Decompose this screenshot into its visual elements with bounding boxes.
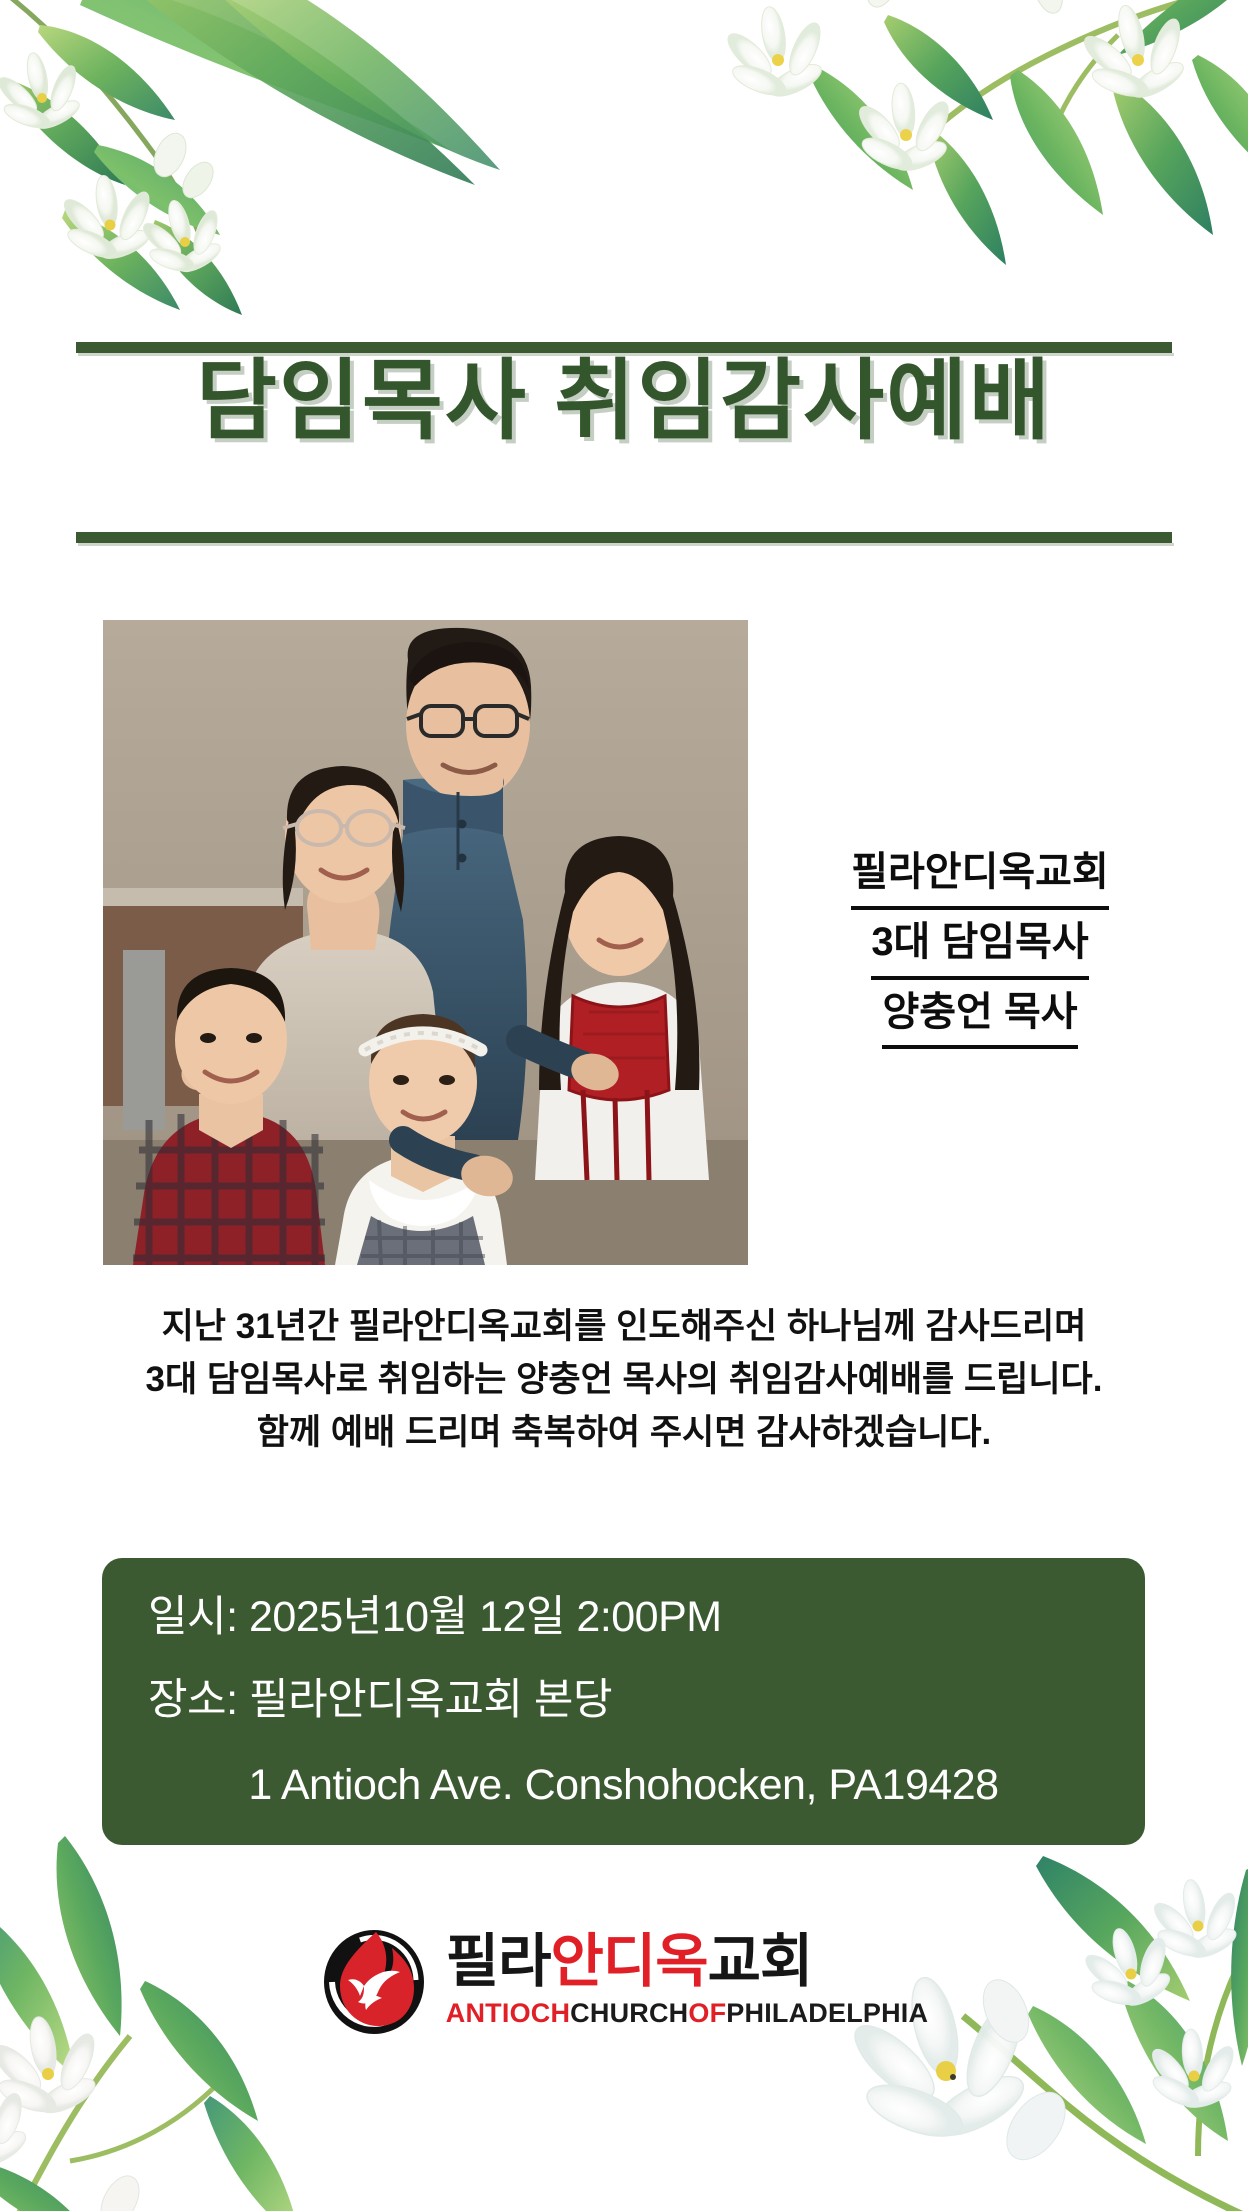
event-details-box: 일시: 2025년10월 12일 2:00PM 장소: 필라안디옥교회 본당 1…: [102, 1558, 1145, 1845]
pastor-caption: 필라안디옥교회 3대 담임목사 양충언 목사: [760, 840, 1200, 1049]
caption-line-church: 필라안디옥교회: [851, 840, 1109, 910]
logo-kr-part3: 교회: [708, 1929, 813, 1994]
logo-wordmark: 필라안디옥교회 ANTIOCHCHURCHOFPHILADELPHIA: [446, 1933, 928, 2027]
body-line-3: 함께 예배 드리며 축복하여 주시면 감사하겠습니다.: [50, 1406, 1198, 1459]
logo-korean-name: 필라안디옥교회: [446, 1933, 928, 1991]
logo-kr-part2: 안디옥: [551, 1929, 708, 1994]
logo-en-part2: CHURCH: [570, 1998, 688, 2028]
botanical-decor-top-right: [718, 0, 1248, 290]
event-venue: 장소: 필라안디옥교회 본당: [148, 1679, 1099, 1722]
title-divider-bottom: [76, 532, 1172, 543]
logo-en-part3: OF: [688, 1998, 726, 2028]
family-photo: [103, 620, 748, 1265]
logo-kr-part1: 필라: [446, 1929, 551, 1994]
body-paragraph: 지난 31년간 필라안디옥교회를 인도해주신 하나님께 감사드리며 3대 담임목…: [50, 1300, 1198, 1460]
logo-english-name: ANTIOCHCHURCHOFPHILADELPHIA: [446, 2000, 928, 2027]
church-logo: 필라안디옥교회 ANTIOCHCHURCHOFPHILADELPHIA: [0, 1905, 1248, 2055]
body-line-1: 지난 31년간 필라안디옥교회를 인도해주신 하나님께 감사드리며: [50, 1300, 1198, 1353]
body-line-2: 3대 담임목사로 취임하는 양충언 목사의 취임감사예배를 드립니다.: [50, 1353, 1198, 1406]
event-address: 1 Antioch Ave. Conshohocken, PA19428: [148, 1764, 1099, 1807]
page-title: 담임목사 취임감사예배: [0, 355, 1248, 447]
caption-line-name: 양충언 목사: [882, 980, 1077, 1050]
event-datetime: 일시: 2025년10월 12일 2:00PM: [148, 1596, 1099, 1639]
caption-line-role: 3대 담임목사: [871, 910, 1088, 980]
logo-en-part1: ANTIOCH: [446, 1998, 570, 2028]
poster-canvas: 담임목사 취임감사예배: [0, 0, 1248, 2211]
botanical-decor-top-left: [0, 0, 500, 330]
flame-dove-logo-icon: [320, 1924, 428, 2036]
logo-en-part4: PHILADELPHIA: [726, 1998, 928, 2028]
